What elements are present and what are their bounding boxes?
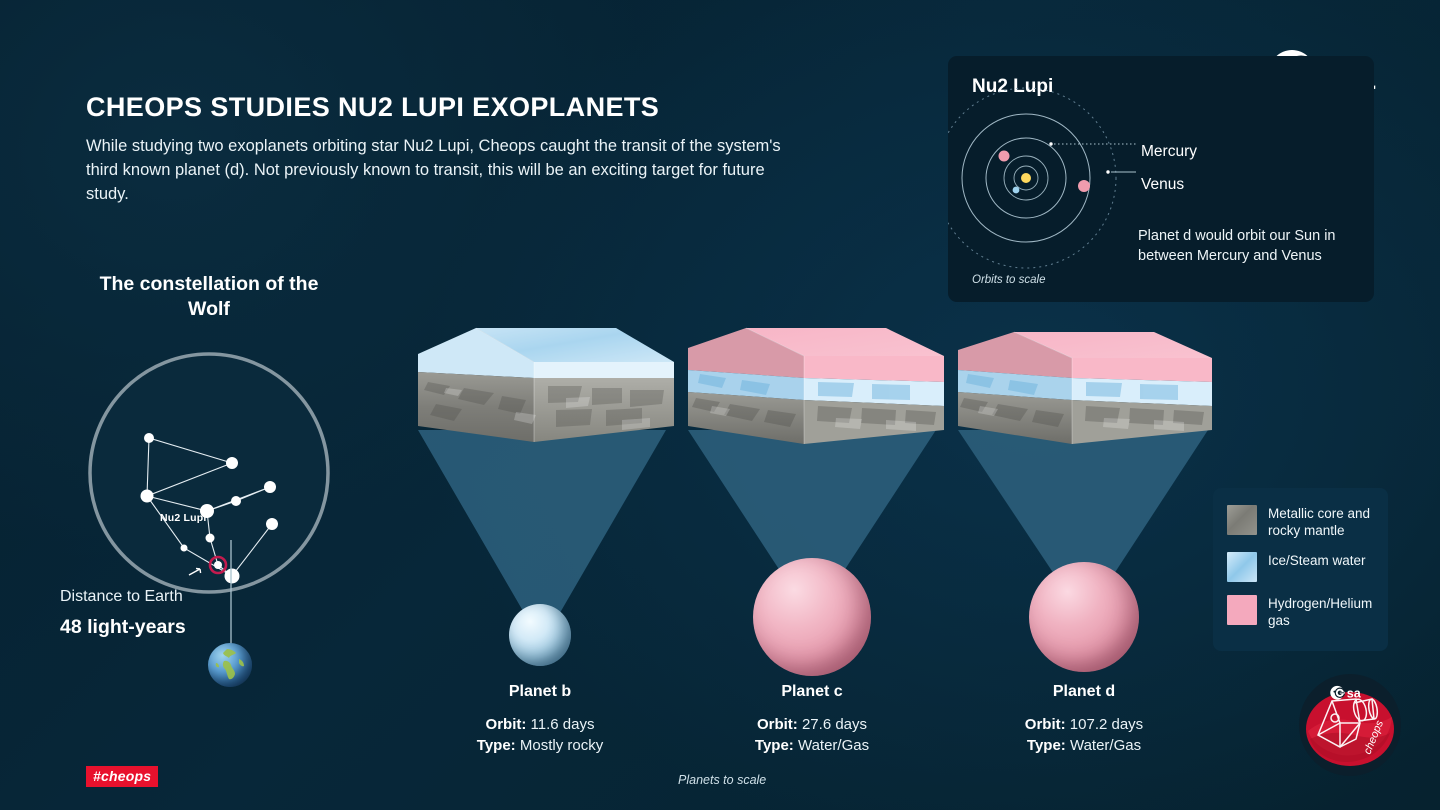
type-value-d: Water/Gas: [1070, 737, 1141, 754]
orbit-label-b: Orbit:: [486, 716, 527, 733]
legend-panel: Metallic core and rocky mantle Ice/Steam…: [1213, 488, 1388, 651]
cross-section-block-c: [686, 326, 946, 450]
legend-label-rock: Metallic core and rocky mantle: [1268, 505, 1374, 539]
orbits-to-scale-note: Orbits to scale: [972, 274, 1046, 286]
type-label-c: Type:: [755, 737, 794, 754]
planets-to-scale-note: Planets to scale: [678, 773, 766, 787]
legend-swatch-rock: [1227, 505, 1257, 535]
legend-label-ice: Ice/Steam water: [1268, 552, 1366, 569]
inset-note: Planet d would orbit our Sun in between …: [1138, 226, 1368, 266]
distance-value: 48 light-years: [60, 616, 186, 639]
cone-connector-d: [958, 430, 1208, 580]
hashtag-badge: #cheops: [86, 766, 158, 787]
cheops-mission-logo: sa cheops: [1298, 673, 1402, 777]
planet-sphere-d: [1029, 562, 1139, 672]
legend-label-gas: Hydrogen/Helium gas: [1268, 595, 1374, 629]
legend-item-gas: Hydrogen/Helium gas: [1227, 595, 1374, 629]
nu2-lupi-inset-panel: Nu2 Lupi Mercury Venus Planet: [948, 56, 1374, 302]
planet-sphere-c: [753, 558, 871, 676]
orbit-value-b: 11.6 days: [531, 716, 595, 733]
constellation-title: The constellation of the Wolf: [85, 272, 333, 322]
page-title: CHEOPS STUDIES NU2 LUPI EXOPLANETS: [86, 92, 659, 123]
nu2-lupi-star-label: Nu2 Lupi: [160, 512, 207, 524]
orbit-value-d: 107.2 days: [1070, 716, 1143, 733]
type-label-d: Type:: [1027, 737, 1066, 754]
legend-item-ice: Ice/Steam water: [1227, 552, 1374, 582]
page-subtitle: While studying two exoplanets orbiting s…: [86, 134, 786, 206]
svg-text:sa: sa: [1347, 687, 1362, 701]
orbit-label-c: Orbit:: [757, 716, 798, 733]
cone-connector-b: [418, 430, 666, 630]
planet-stats-d: Orbit: 107.2 days Type: Water/Gas: [964, 714, 1204, 756]
planet-name-b: Planet b: [440, 683, 640, 701]
type-value-c: Water/Gas: [798, 737, 869, 754]
type-label-b: Type:: [477, 737, 516, 754]
cross-section-block-b: [416, 326, 676, 450]
orbit-label-d: Orbit:: [1025, 716, 1066, 733]
legend-swatch-gas: [1227, 595, 1257, 625]
label-mercury: Mercury: [1141, 143, 1197, 161]
cross-section-block-d: [956, 330, 1214, 450]
planet-stats-c: Orbit: 27.6 days Type: Water/Gas: [692, 714, 932, 756]
planet-stats-b: Orbit: 11.6 days Type: Mostly rocky: [420, 714, 660, 756]
legend-item-rock: Metallic core and rocky mantle: [1227, 505, 1374, 539]
planet-sphere-b: [509, 604, 571, 666]
earth-icon: [208, 643, 252, 687]
planet-name-d: Planet d: [984, 683, 1184, 701]
label-venus: Venus: [1141, 176, 1184, 194]
orbit-value-c: 27.6 days: [802, 716, 867, 733]
distance-label: Distance to Earth: [60, 588, 183, 606]
infographic-canvas: CHEOPS STUDIES NU2 LUPI EXOPLANETS While…: [0, 0, 1440, 810]
legend-swatch-ice: [1227, 552, 1257, 582]
planet-name-c: Planet c: [712, 683, 912, 701]
type-value-b: Mostly rocky: [520, 737, 603, 754]
